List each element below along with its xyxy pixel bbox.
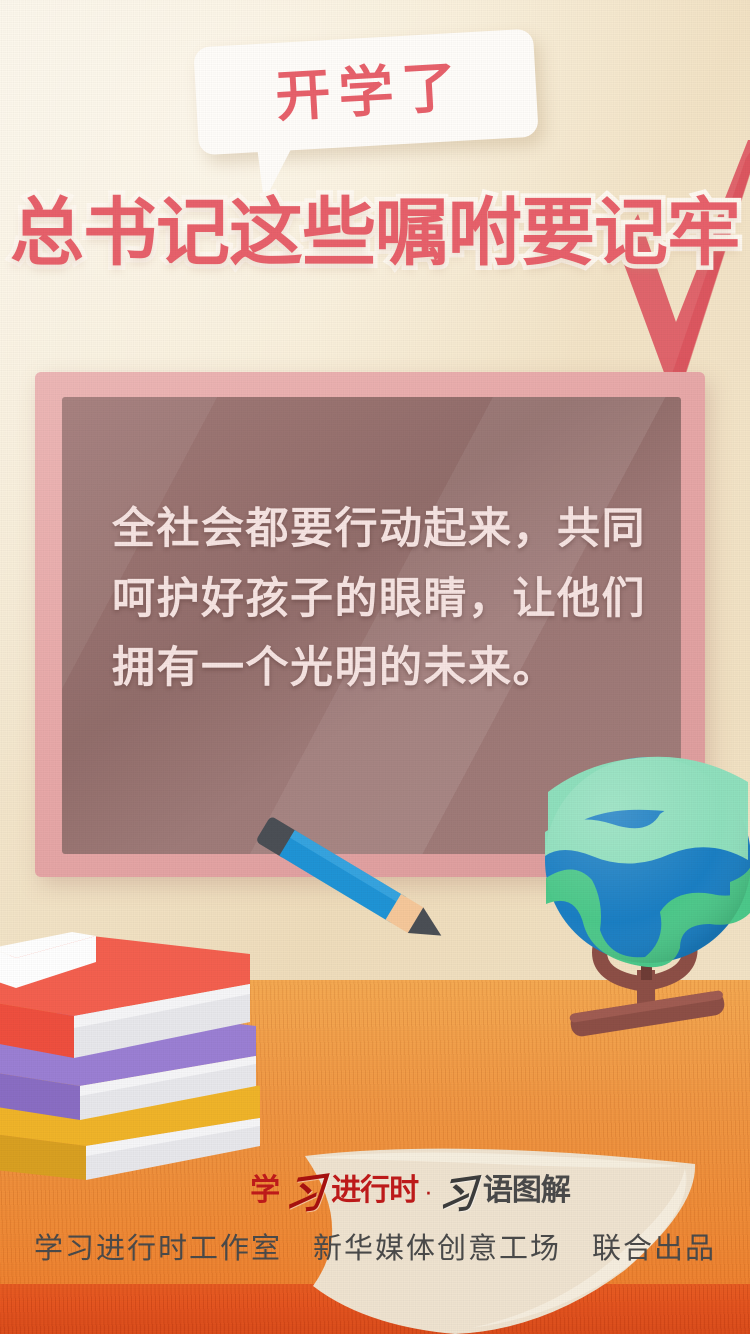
logo-xi-calligraphy-red: 习 bbox=[283, 1159, 327, 1224]
logo-separator-dot: · bbox=[424, 1176, 433, 1207]
credits-line: 学习进行时工作室 新华媒体创意工场 联合出品 bbox=[0, 1225, 750, 1267]
badge-speech-bubble: 开学了 bbox=[193, 29, 538, 156]
page-title: 总书记这些嘱咐要记牢 bbox=[0, 196, 750, 270]
globe-icon bbox=[540, 752, 750, 1052]
logo-text-jinxingshi: 进行时 bbox=[331, 1176, 418, 1206]
logo-text-yutujie: 语图解 bbox=[483, 1176, 570, 1206]
logo-text-xue: 学 bbox=[250, 1176, 279, 1206]
logo-xi-calligraphy-gray: 习 bbox=[437, 1160, 479, 1221]
blackboard-quote: 全社会都要行动起来，共同呵护好孩子的眼睛，让他们拥有一个光明的未来。 bbox=[112, 495, 655, 704]
brand-logo: 学 习 进行时 · 习 语图解 bbox=[250, 1160, 570, 1222]
book-stack-icon bbox=[0, 918, 288, 1208]
poster-root: 开学了 总书记这些嘱咐要记牢 全社会都要行动起来，共同呵护好孩子的眼睛，让他们拥… bbox=[0, 0, 750, 1334]
badge-label: 开学了 bbox=[193, 29, 538, 156]
